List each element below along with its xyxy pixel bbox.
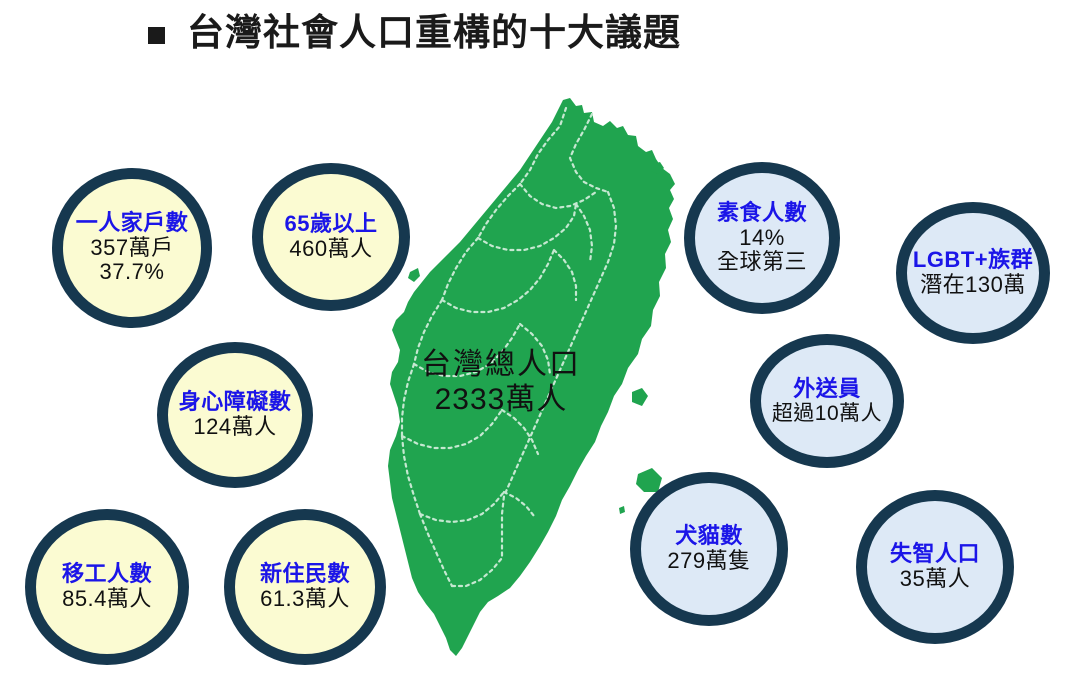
bubble-value-2: 全球第三 — [717, 250, 807, 275]
bubble-one-person-household[interactable]: 一人家戶數 357萬戶 37.7% — [52, 168, 212, 328]
bubble-value-1: 124萬人 — [193, 415, 276, 440]
bubble-value-1: 14% — [739, 226, 785, 251]
bubble-delivery-workers[interactable]: 外送員 超過10萬人 — [750, 334, 904, 468]
bubble-value-1: 279萬隻 — [667, 549, 750, 574]
bubble-heading: 外送員 — [793, 377, 861, 402]
bubble-age-65-plus[interactable]: 65歲以上 460萬人 — [252, 163, 410, 311]
bubble-heading: 一人家戶數 — [76, 211, 189, 236]
bubble-value-1: 85.4萬人 — [62, 587, 152, 612]
bubble-value-1: 超過10萬人 — [772, 402, 882, 426]
taiwan-mainland-shape — [388, 98, 675, 656]
infographic-slide: 台灣社會人口重構的十大議題 — [0, 0, 1080, 676]
bubble-heading: 新住民數 — [260, 562, 350, 587]
bubble-value-1: 460萬人 — [289, 237, 372, 262]
page-title-text: 台灣社會人口重構的十大議題 — [187, 14, 681, 51]
page-title: 台灣社會人口重構的十大議題 — [148, 14, 681, 51]
bubble-dementia-population[interactable]: 失智人口 35萬人 — [856, 490, 1014, 644]
bubble-heading: LGBT+族群 — [913, 248, 1033, 273]
bubble-heading: 65歲以上 — [285, 212, 378, 237]
bubble-value-2: 37.7% — [100, 260, 165, 285]
bubble-lgbt-community[interactable]: LGBT+族群 潛在130萬 — [896, 202, 1050, 344]
bubble-value-1: 357萬戶 — [90, 236, 173, 261]
bubble-value-1: 35萬人 — [900, 567, 970, 592]
bubble-heading: 失智人口 — [890, 542, 980, 567]
bubble-migrant-workers[interactable]: 移工人數 85.4萬人 — [25, 509, 189, 665]
bubble-dogs-and-cats[interactable]: 犬貓數 279萬隻 — [630, 472, 788, 626]
bubble-vegetarian-population[interactable]: 素食人數 14% 全球第三 — [684, 162, 840, 314]
bubble-value-1: 潛在130萬 — [920, 273, 1026, 298]
bubble-heading: 移工人數 — [62, 562, 152, 587]
bubble-heading: 素食人數 — [717, 201, 807, 226]
bubble-new-residents[interactable]: 新住民數 61.3萬人 — [224, 509, 386, 665]
bubble-heading: 犬貓數 — [675, 524, 743, 549]
bubble-value-1: 61.3萬人 — [260, 587, 350, 612]
bubble-heading: 身心障礙數 — [179, 390, 292, 415]
bubble-disability-population[interactable]: 身心障礙數 124萬人 — [157, 342, 313, 488]
square-bullet-icon — [148, 27, 165, 44]
